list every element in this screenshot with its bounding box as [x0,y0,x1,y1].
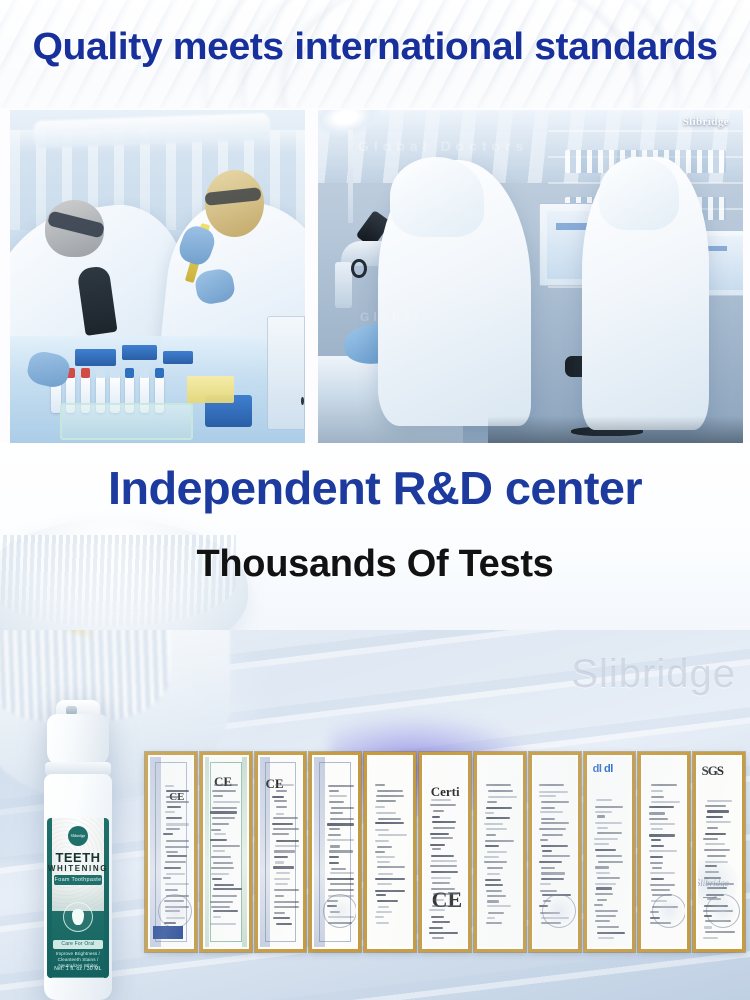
certificate-text-line [598,861,624,863]
certificate-text-line [430,804,455,806]
certificate-body [534,757,576,947]
sample-rack-yellow [187,376,234,403]
certificate-body [369,757,411,947]
certificate-text-line [378,906,388,908]
certificate-card[interactable]: CertiCE [419,752,471,952]
certificate-text-line [486,834,496,836]
certificate-text-line [431,888,455,890]
certificate-text-line [705,805,726,807]
certificate-text-line [430,865,457,867]
certificate-text-line [649,806,674,808]
certificate-text-line [432,816,440,818]
certificate-text-line [594,843,610,845]
certificate-strip: CECECECertiCEdl dlSGSSlibridge [145,752,745,952]
certificate-text-line [375,878,405,880]
certificate-text-line [274,850,295,852]
certificate-text-line [649,834,676,836]
certificate-text-line [487,900,500,902]
certificate-text-line [487,873,501,875]
product-label: Slibridge TEETH WHITENING Foam Toothpast… [47,818,109,978]
certificate-text-line [167,806,182,808]
certificate-text-line [328,785,354,787]
certificate-stamp [542,894,575,928]
certificate-text-line [597,832,622,834]
certificate-text-line [376,911,392,913]
certificate-text-line [210,901,233,903]
certificate-text-line [276,840,299,842]
certificate-text-line [703,937,718,939]
certificate-text-line [485,884,503,886]
certificate-body: CE [150,757,192,947]
certificate-text-line [649,818,668,820]
lab-researchers-photo [10,110,305,443]
product-care-band: Care For Oral Health [53,940,103,949]
certificate-text-line [431,877,451,879]
certificate-text-line [539,784,564,786]
page-title: Quality meets international standards [0,26,750,68]
certificate-body [643,757,685,947]
certificate-text-line [433,827,455,829]
glass-tray [60,403,193,440]
certificate-text-line [377,861,391,863]
certificate-text-line [165,861,186,863]
certificate-text-line [541,878,564,880]
certificate-body: CE [260,757,302,947]
lamp-arm [348,130,353,223]
certificate-text-line [276,790,287,792]
certificate-text-line [429,909,445,911]
certificate-stamp [652,894,685,928]
certificate-text-line [331,868,346,870]
certificate-stamp [158,894,191,928]
certificate-text-line [541,872,565,874]
certificate-card[interactable] [364,752,416,952]
certificate-text-line [375,890,405,892]
certificate-sideband [242,757,246,947]
certificate-text-line [703,838,718,840]
certificate-text-line [329,795,347,797]
certificate-text-line [540,839,548,841]
tooth-icon [63,902,93,932]
certificate-text-line [212,895,237,897]
section-heading: Independent R&D center [0,463,750,513]
certificate-text-line [649,812,665,814]
certificate-text-line [165,846,189,848]
product-title: TEETH [47,850,109,865]
certificate-text-line [274,878,290,880]
certificate-text-line [166,801,189,803]
certificate-text-line [432,905,461,907]
certificate-text-line [376,894,386,896]
certificate-text-line [376,800,396,802]
certificate-text-line [166,828,180,830]
certificate-text-line [707,800,733,802]
certificate-text-line [275,895,284,897]
certificate-text-line [213,862,233,864]
certificate-text-line [487,801,497,803]
product-bottle: Slibridge TEETH WHITENING Foam Toothpast… [36,700,120,1000]
certificate-text-line [276,872,290,874]
certificate-text-line [431,837,453,839]
certificate-text-line [377,900,398,902]
certificate-text-line [594,838,618,840]
certificate-body: dl dl [589,757,631,947]
middle-text-section: Independent R&D center Thousands Of Test… [0,443,750,633]
certificate-text-line [539,791,568,793]
certificate-text-line [327,823,353,825]
product-type-band: Foam Toothpaste [54,875,102,885]
certificate-text-line [213,916,221,918]
certificate-card[interactable]: SGSSlibridge [693,752,745,952]
certificate-text-line [210,811,237,813]
certificate-card[interactable]: CE [145,752,197,952]
certificate-text-line [540,811,563,813]
certificate-text-line [707,810,728,812]
certificate-text-line [650,884,675,886]
certificate-text-line [272,823,293,825]
instrument-lens [301,397,304,405]
certificate-body: CertiCE [424,757,466,947]
certificate-text-line [212,817,234,819]
certificate-text-line [651,878,664,880]
certificate-text-line [431,799,451,801]
certificate-text-line [597,827,608,829]
certificate-text-line [649,850,678,852]
certificate-text-line [327,878,353,880]
certificate-text-line [276,813,285,815]
certificate-text-line [274,800,288,802]
certificate-text-line [376,795,404,797]
certificate-text-line [276,923,292,925]
certificate-body: CE [205,757,247,947]
certificate-text-line [651,828,663,830]
certificate-text-line [484,823,503,825]
certificate-text-line [596,887,613,889]
certificate-text-line [431,871,458,873]
reagent-box [75,349,116,366]
certificate-text-line [488,912,504,914]
certificate-text-line [328,889,354,891]
product-size: Net: 1 fl. oz / 30 ML [47,966,109,972]
certificate-text-line [275,784,294,786]
photo-row: Global Doctors Global Slibridge [0,110,750,443]
dl-logo: dl dl [593,763,613,775]
certificate-text-line [541,807,555,809]
certificate-text-line [432,821,455,823]
ce-mark-icon: CE [214,774,232,790]
certificate-card[interactable] [309,752,361,952]
lab-instrument [267,316,305,429]
certificate-text-line [486,922,502,924]
floor-shadow [488,416,743,443]
certificate-body: SGSSlibridge [698,757,740,947]
certificate-text-line [274,906,299,908]
certificate-text-line [486,828,507,830]
certificate-text-line [375,916,385,918]
certificate-text-line [430,833,449,835]
certificate-text-line [486,784,511,786]
certificate-text-line [329,790,339,792]
certificate-text-line [595,883,616,885]
certificate-text-line [597,899,607,901]
certificate-text-line [594,904,603,906]
certificate-text-line [487,851,508,853]
certificate-text-line [330,812,343,814]
certificate-text-line [486,807,512,809]
certificate-text-line [485,812,494,814]
certificate-text-line [330,872,354,874]
certificate-text-line [704,849,730,851]
certificate-text-line [275,883,288,885]
certificate-text-line [542,855,570,857]
certificate-text-line [540,883,551,885]
certificate-text-line [705,931,734,933]
certificate-text-line [595,893,613,895]
certificate-text-line [539,795,556,797]
certificate-text-line [706,821,731,823]
certificate-text-line [214,884,235,886]
certificate-text-line [273,917,290,919]
certificate-text-line [486,817,510,819]
certificate-card[interactable]: CE [255,752,307,952]
certificate-text-line [276,806,287,808]
certificate-text-line [212,790,236,792]
certificate-text-line [378,873,393,875]
certificate-text-line [484,861,507,863]
signature-line [703,897,717,898]
certificate-text-line [651,839,661,841]
certificate-text-line [377,790,402,792]
certificate-text-line [485,879,501,881]
certificate-text-line [165,785,174,787]
certificate-text-line [375,829,388,831]
certificate-text-line [487,895,506,897]
certificate-text-line [210,839,227,841]
certificate-text-line [376,856,395,858]
certificate-text-line [487,917,495,919]
certificate-text-line [484,856,499,858]
certificate-text-line [651,790,663,792]
certificate-text-line [652,867,662,869]
certificate-text-line [166,790,189,792]
certificate-text-line [650,823,675,825]
certificate-card[interactable] [474,752,526,952]
certificate-text-line [433,893,458,895]
certificate-text-line [166,873,185,875]
brand-watermark: Slibridge [683,116,729,128]
certificate-text-line [651,796,664,798]
certificate-text-line [650,856,663,858]
certificate-text-line [650,862,663,864]
certificate-card[interactable] [529,752,581,952]
certificate-text-line [485,840,514,842]
certificate-text-line [273,817,298,819]
certificate-text-line [330,845,340,847]
certificate-text-line [375,784,385,786]
certificate-text-line [211,873,229,875]
certificate-text-line [166,817,182,819]
certificate-text-line [595,849,616,851]
certificate-text-line [433,899,443,901]
certificate-text-line [651,784,677,786]
certificate-text-line [595,822,622,824]
certificate-text-line [329,850,353,852]
certificate-text-line [597,926,619,928]
certificate-text-line [377,883,392,885]
certificate-text-line [432,937,443,939]
product-subtitle: WHITENING [47,864,109,873]
certificate-stamp [323,894,356,928]
certificate-text-line [541,845,568,847]
certificate-text-line [707,827,719,829]
certificate-text-line [329,856,339,858]
certificate-text-line [651,845,664,847]
certificate-text-line [431,860,456,862]
certificate-text-line [541,822,568,824]
brand-badge: Slibridge [68,826,88,846]
certificate-card[interactable]: dl dl [584,752,636,952]
certificate-text-line [212,807,237,809]
certificate-text-line [595,806,624,808]
certificate-text-line [211,906,230,908]
background-watermark: Global Doctors [358,138,528,154]
certificate-text-line [274,912,284,914]
certificate-text-line [595,866,608,868]
certificate-body [479,757,521,947]
certificate-text-line [706,816,723,818]
microscope-focus-knob [351,259,367,279]
certificate-body [314,757,356,947]
certificate-text-line [486,890,502,892]
certificate-text-line [378,834,406,836]
certificate-text-line [488,790,513,792]
certificate-text-line [327,839,354,841]
technician-front-hood [390,157,484,237]
promo-page: Quality meets international standards [0,0,750,1000]
certificate-text-line [331,807,354,809]
certificate-text-line [376,922,388,924]
certificate-text-line [274,889,299,891]
certificate-text-line [375,840,390,842]
cleanroom-technicians-photo: Global Doctors Global Slibridge [318,110,743,443]
certificate-title: Certi [431,784,460,800]
certificate-text-line [539,828,565,830]
header-banner: Quality meets international standards [0,0,750,108]
certificate-text-line [597,932,625,934]
certificate-text-line [210,923,236,925]
certificate-text-line [598,937,614,939]
brand-watermark: Slibridge [571,652,736,697]
certificate-text-line [377,846,392,848]
certificate-text-line [165,889,178,891]
certificate-text-line [542,834,563,836]
certificate-text-line [432,848,441,850]
certificate-text-line [213,850,225,852]
sgs-logo: SGS [701,763,723,779]
certificate-text-line [431,916,444,918]
certificate-text-line [375,806,385,808]
certificate-text-line [328,834,342,836]
certificate-text-line [541,867,555,869]
certificate-text-line [165,883,190,885]
certificate-text-line [274,901,299,903]
certificate-text-line [275,845,299,847]
certificate-text-line [487,905,512,907]
certificate-text-line [164,867,181,869]
certificate-text-line [485,845,499,847]
certificate-card[interactable] [638,752,690,952]
certificate-text-line [212,823,228,825]
certificate-text-line [705,833,726,835]
certificate-text-line [166,851,177,853]
certificate-text-line [650,872,675,874]
certificate-text-line [211,867,234,869]
certificate-text-line [166,823,190,825]
certificate-text-line [429,932,458,934]
certificate-text-line [487,867,503,869]
certificate-text-line [704,926,712,928]
pump-head [47,714,109,766]
certificate-text-line [329,828,340,830]
certificate-text-line [541,801,569,803]
certificate-text-line [488,796,517,798]
certificate-text-line [431,855,453,857]
reagent-box [163,351,193,364]
certificate-text-line [375,822,404,824]
certificate-text-line [597,877,620,879]
microscope-stand [335,262,353,308]
certificate-text-line [596,799,612,801]
reagent-box [122,345,157,360]
certificate-text-line [163,833,173,835]
certificate-text-line [432,882,450,884]
certificate-text-line [597,815,605,817]
certificate-text-line [272,796,284,798]
certificate-text-line [539,861,563,863]
certificate-text-line [213,795,223,797]
certificate-text-line [541,818,555,820]
certificate-text-line [705,843,725,845]
background-watermark: Global [360,310,421,324]
technician-back-hood [599,157,680,230]
certificate-text-line [595,910,618,912]
certificate-text-line [212,845,240,847]
certificate-text-line [542,850,552,852]
certificate-text-line [596,915,616,917]
certificate-text-line [651,801,680,803]
certificate-text-line [540,890,557,892]
certificate-text-line [166,796,179,798]
certificate-text-line [596,872,610,874]
certificate-text-line [595,920,611,922]
certificate-text-line [433,810,444,812]
certificate-text-line [595,811,612,813]
certificate-text-line [651,889,670,891]
certificate-text-line [430,844,445,846]
certificate-text-line [329,862,339,864]
certificate-footer-bar [153,926,183,939]
certificate-text-line [376,812,396,814]
section-subheading: Thousands Of Tests [0,543,750,585]
certificate-sideband [205,757,209,947]
certificate-text-line [596,855,622,857]
certificate-card[interactable]: CE [200,752,252,952]
certificate-text-line [432,921,450,923]
certificate-text-line [330,818,354,820]
certificate-text-line [273,866,294,868]
certificate-text-line [275,861,284,863]
certificate-text-line [375,851,385,853]
